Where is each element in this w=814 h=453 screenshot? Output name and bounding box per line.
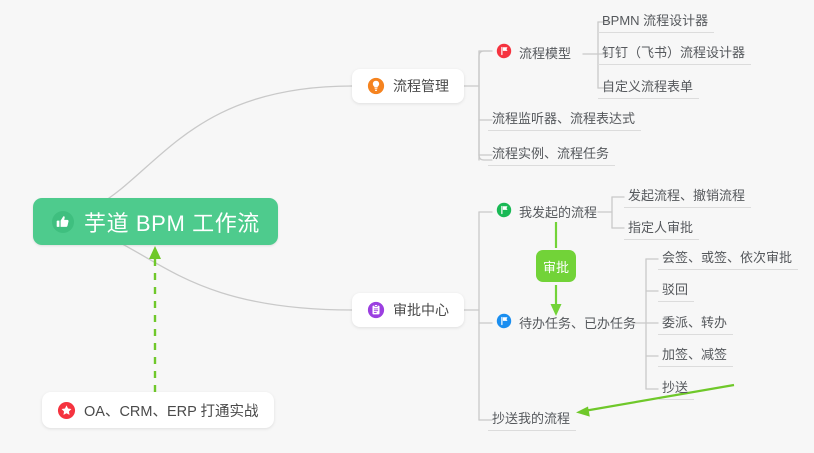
flag-red-icon xyxy=(496,43,512,59)
node-reject[interactable]: 驳回 xyxy=(658,277,694,302)
node-label-bpmn-designer: BPMN 流程设计器 xyxy=(602,14,708,27)
node-dingtalk-feishu-designer[interactable]: 钉钉（飞书）流程设计器 xyxy=(598,40,751,65)
node-add-remove-sign[interactable]: 加签、减签 xyxy=(658,342,733,367)
node-start-cancel-process[interactable]: 发起流程、撤销流程 xyxy=(624,183,751,208)
node-todo-done-tasks[interactable]: 待办任务、已办任务 xyxy=(492,310,642,335)
integration-arrowhead xyxy=(149,246,161,259)
node-label-process-listener-expression: 流程监听器、流程表达式 xyxy=(492,112,635,125)
mindmap-canvas: 芋道 BPM 工作流 流程管理 流程模型 BPMN 流程设计器 钉钉（飞书 xyxy=(0,0,814,453)
approval-badge[interactable]: 审批 xyxy=(536,250,576,282)
node-label-add-remove-sign: 加签、减签 xyxy=(662,348,727,361)
node-assignee-approval[interactable]: 指定人审批 xyxy=(624,215,699,240)
node-custom-process-form[interactable]: 自定义流程表单 xyxy=(598,74,699,99)
clipboard-icon xyxy=(367,301,385,319)
node-label-carbon-copy: 抄送 xyxy=(662,381,688,394)
branch-label-process-management: 流程管理 xyxy=(393,76,449,96)
node-label-dingtalk-feishu-designer: 钉钉（飞书）流程设计器 xyxy=(602,46,745,59)
node-bpmn-designer[interactable]: BPMN 流程设计器 xyxy=(598,8,714,33)
root-label: 芋道 BPM 工作流 xyxy=(84,206,260,238)
node-label-my-initiated-processes: 我发起的流程 xyxy=(519,206,597,219)
flag-green-icon xyxy=(496,202,512,218)
node-cc-to-me-processes[interactable]: 抄送我的流程 xyxy=(488,406,576,431)
integration-card-label: OA、CRM、ERP 打通实战 xyxy=(84,400,259,421)
node-label-delegate-transfer: 委派、转办 xyxy=(662,316,727,329)
node-carbon-copy[interactable]: 抄送 xyxy=(658,375,694,400)
star-icon xyxy=(57,401,76,420)
node-my-initiated-processes[interactable]: 我发起的流程 xyxy=(492,199,603,224)
node-counter-or-sequential-sign[interactable]: 会签、或签、依次审批 xyxy=(658,245,798,270)
node-label-reject: 驳回 xyxy=(662,283,688,296)
node-label-todo-done-tasks: 待办任务、已办任务 xyxy=(519,317,636,330)
node-label-start-cancel-process: 发起流程、撤销流程 xyxy=(628,189,745,202)
thumbs-up-icon xyxy=(51,210,75,234)
node-process-model[interactable]: 流程模型 xyxy=(492,40,577,65)
root-node[interactable]: 芋道 BPM 工作流 xyxy=(33,198,278,245)
lightbulb-icon xyxy=(367,77,385,95)
flag-blue-icon xyxy=(496,313,512,329)
approval-badge-label: 审批 xyxy=(543,257,569,276)
node-label-custom-process-form: 自定义流程表单 xyxy=(602,80,693,93)
node-label-process-instance-task: 流程实例、流程任务 xyxy=(492,147,609,160)
branch-node-process-management[interactable]: 流程管理 xyxy=(352,69,464,103)
integration-card[interactable]: OA、CRM、ERP 打通实战 xyxy=(42,392,274,428)
node-label-process-model: 流程模型 xyxy=(519,47,571,60)
node-process-listener-expression[interactable]: 流程监听器、流程表达式 xyxy=(488,106,641,131)
branch-node-approval-center[interactable]: 审批中心 xyxy=(352,293,464,327)
branch-label-approval-center: 审批中心 xyxy=(393,300,449,320)
node-label-counter-or-sequential-sign: 会签、或签、依次审批 xyxy=(662,251,792,264)
node-delegate-transfer[interactable]: 委派、转办 xyxy=(658,310,733,335)
node-label-cc-to-me-processes: 抄送我的流程 xyxy=(492,412,570,425)
cc-flow-arrowhead xyxy=(576,407,590,417)
node-label-assignee-approval: 指定人审批 xyxy=(628,221,693,234)
node-process-instance-task[interactable]: 流程实例、流程任务 xyxy=(488,141,615,166)
